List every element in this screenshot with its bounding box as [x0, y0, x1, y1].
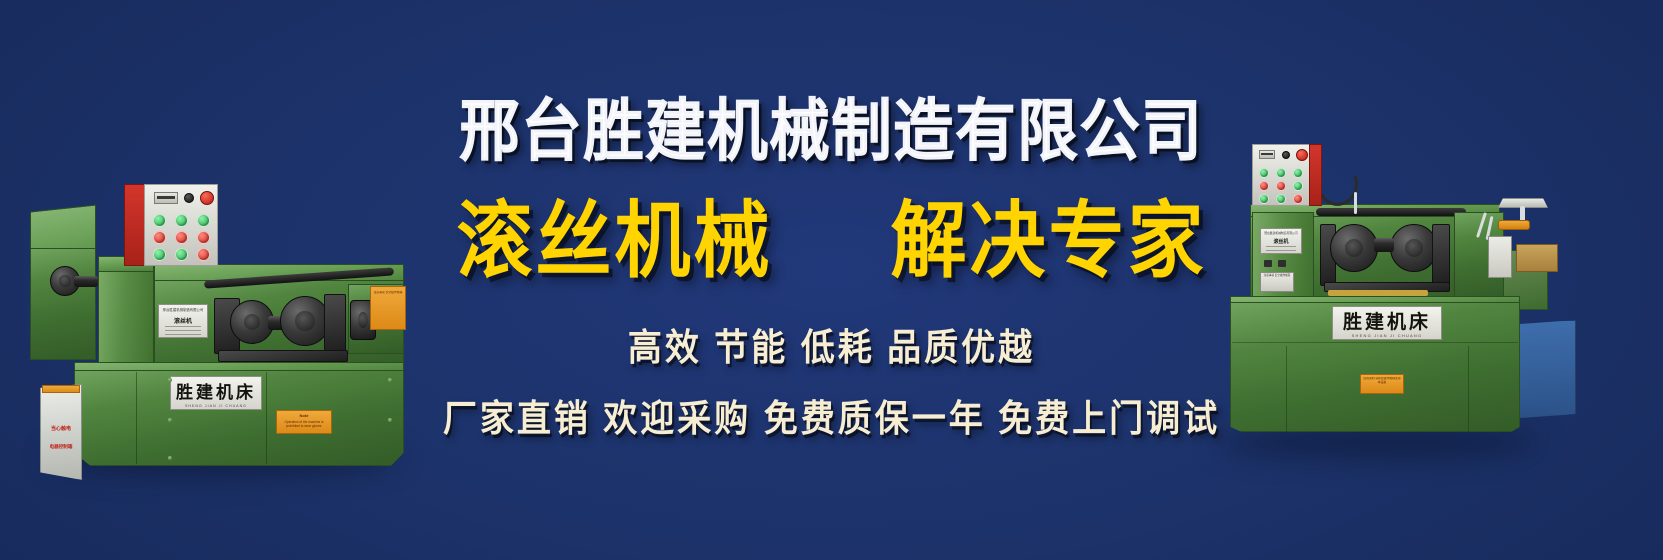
right-machine-lamp-6[interactable]: [1293, 181, 1303, 191]
left-machine-spec-plate: 邢台胜建机械制造有限公司 滚丝机: [158, 304, 208, 338]
left-machine-bolt: [168, 456, 172, 460]
headline-right: 解决专家: [891, 200, 1207, 284]
left-machine-warning-label-title: Note: [277, 413, 331, 418]
right-machine-base-seam-3: [1232, 342, 1518, 343]
right-machine-bottom-label-text: 使用说明 请按照操作规程使用本设备: [1363, 377, 1402, 385]
right-machine-lamp-3[interactable]: [1293, 168, 1303, 178]
right-machine-lamp-4[interactable]: [1259, 181, 1269, 191]
right-machine-lamp-5[interactable]: [1276, 181, 1286, 191]
left-machine-bolt: [168, 418, 172, 422]
headline-left: 滚丝机械: [457, 200, 773, 284]
right-machine-roller-right: [1390, 224, 1438, 272]
left-machine-lamp-8[interactable]: [175, 248, 188, 261]
left-machine-spec-plate-model: 滚丝机: [159, 316, 207, 325]
left-machine-lamp-4[interactable]: [153, 231, 166, 244]
left-machine-selector-knob: [184, 193, 194, 203]
right-machine-hose-tube: [1354, 192, 1357, 214]
right-machine-spec-plate-title: 邢台胜建机械制造有限公司: [1261, 231, 1301, 235]
left-machine-lamp-3[interactable]: [197, 214, 210, 227]
right-machine-side-label-text: 注意事项 安全操作规程: [1263, 274, 1292, 277]
left-machine-cabinet-text-1: 当心触电: [40, 426, 82, 434]
left-machine-lamp-5[interactable]: [175, 231, 188, 244]
left-machine-rear-side: [30, 248, 96, 360]
right-machine-brand-plate-pinyin: SHENG JIAN JI CHUANG: [1333, 333, 1441, 338]
right-machine-center-link: [1374, 238, 1394, 252]
right-machine-brand-plate: 胜建机床 SHENG JIAN JI CHUANG: [1332, 306, 1442, 340]
left-machine-control-box: [124, 184, 218, 266]
left-machine-lamp-7[interactable]: [153, 248, 166, 261]
right-machine-shadow: [1218, 428, 1538, 456]
left-machine-bolt: [388, 418, 392, 422]
right-machine-lamp-1[interactable]: [1259, 168, 1269, 178]
left-machine-left-shaft: [74, 276, 98, 287]
right-machine-lamp-9[interactable]: [1293, 194, 1303, 204]
subtitle-features: 高效 节能 低耗 品质优越: [628, 318, 1035, 371]
right-machine-button-grid[interactable]: [1259, 168, 1307, 204]
right-machine-display-meter: [1259, 150, 1275, 159]
right-machine-lamp-7[interactable]: [1259, 194, 1269, 204]
headline-row: 滚丝机械 解决专家: [457, 204, 1207, 280]
right-machine-brand-plate-text: 胜建机床: [1343, 307, 1431, 334]
left-machine-warning-label: Note Operation of the machine is prohibi…: [276, 410, 332, 434]
right-machine-base-seam-2: [1468, 346, 1469, 432]
right-machine-latch-2: [1278, 260, 1286, 267]
left-machine-roller-right: [280, 296, 330, 346]
left-machine-display-meter: [154, 192, 178, 204]
left-machine-side-label-text: 注意事项 安全操作规程: [372, 291, 403, 295]
right-machine-lamp-2[interactable]: [1276, 168, 1286, 178]
promo-banner: 邢台胜建机械制造有限公司 滚丝机: [0, 0, 1663, 560]
left-machine-bolt: [168, 378, 172, 382]
right-machine-selector-knob: [1282, 151, 1290, 159]
right-machine-control-valve: [1488, 236, 1512, 278]
right-machine-lamp-8[interactable]: [1276, 194, 1286, 204]
left-machine-button-grid[interactable]: [153, 214, 215, 261]
left-machine-bolt: [388, 378, 392, 382]
right-machine-nozzle-cluster: [1498, 220, 1530, 230]
left-machine-lamp-9[interactable]: [197, 248, 210, 261]
left-machine-base-seam-1: [136, 372, 137, 464]
left-machine-lamp-2[interactable]: [175, 214, 188, 227]
left-machine-brand-plate: 胜建机床 SHENG JIAN JI CHUANG: [170, 376, 262, 410]
subtitle-services: 厂家直销 欢迎采购 免费质保一年 免费上门调试: [443, 389, 1220, 442]
right-machine-image: 邢台胜建机械制造有限公司 滚丝机 注意事项 安全操作规程 胜建机床 SHENG …: [1168, 120, 1588, 460]
left-machine-brand-plate-text: 胜建机床: [176, 378, 256, 403]
left-machine-lamp-1[interactable]: [153, 214, 166, 227]
right-machine-bottom-label: 使用说明 请按照操作规程使用本设备: [1360, 374, 1404, 394]
left-machine-control-box-side: [124, 184, 146, 266]
left-machine-lamp-6[interactable]: [197, 231, 210, 244]
left-machine-head-right: [324, 294, 346, 352]
left-machine-brand-plate-pinyin: SHENG JIAN JI CHUANG: [171, 404, 261, 408]
left-machine-spec-plate-title: 邢台胜建机械制造有限公司: [159, 307, 207, 312]
right-machine-emergency-stop-button[interactable]: [1296, 149, 1308, 161]
right-machine-brass-plate: [1516, 244, 1558, 272]
right-machine-control-box-side: [1309, 144, 1322, 206]
right-machine-latch-1: [1264, 260, 1272, 267]
right-machine-base-seam-1: [1286, 346, 1287, 432]
left-machine-head-base: [218, 350, 348, 362]
left-machine-cabinet-top-strip: [42, 385, 80, 393]
right-machine-side-label: 注意事项 安全操作规程: [1260, 272, 1294, 292]
right-machine-roller-left: [1330, 224, 1378, 272]
right-machine-spec-plate: 邢台胜建机械制造有限公司 滚丝机: [1260, 228, 1302, 254]
left-machine-side-label: 注意事项 安全操作规程: [370, 286, 406, 330]
left-machine-headstock-pillar: [98, 266, 154, 376]
left-machine-base-seam-2: [266, 372, 267, 464]
left-machine-image: 邢台胜建机械制造有限公司 滚丝机: [18, 88, 418, 478]
right-machine-spec-plate-model: 滚丝机: [1261, 238, 1301, 245]
right-machine-head-right: [1432, 224, 1450, 286]
left-machine-emergency-stop-button[interactable]: [200, 191, 214, 205]
right-machine-control-box: [1252, 144, 1322, 206]
right-machine-top-rail: [1316, 208, 1466, 216]
left-machine-warning-label-text: Operation of the machine is prohibited t…: [279, 420, 329, 429]
left-machine-cabinet-text-2: 电器控制箱: [40, 444, 82, 451]
company-name: 邢台胜建机械制造有限公司: [460, 98, 1204, 165]
